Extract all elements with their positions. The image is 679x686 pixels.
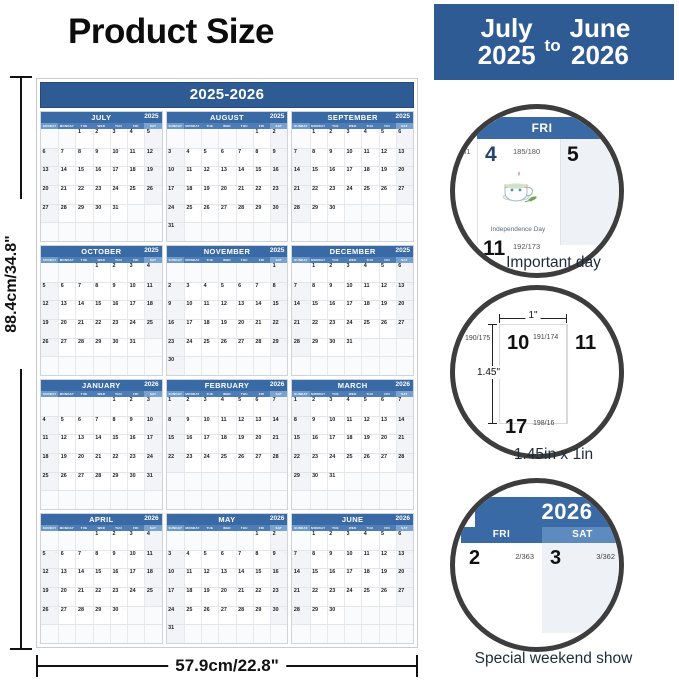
day-fraction: ··· [284,321,287,324]
day-fraction: ··· [232,455,235,458]
day-cell-empty [127,205,144,223]
day-fraction: ··· [358,169,361,172]
day-number: 12 [381,150,387,155]
day-cell: 7··· [236,149,253,167]
day-number: 30 [312,474,318,479]
day-cell-empty [253,263,270,282]
day-number: 7 [255,284,258,289]
day-number: 8 [112,418,115,423]
day-cell: 9··· [127,417,144,435]
day-number: 11 [186,570,192,575]
day-number: 2 [168,284,171,289]
day-number: 11 [221,418,227,423]
day-cell: 13··· [396,149,413,167]
day-number: 24 [347,187,353,192]
day-cell-empty [253,357,270,375]
day-number: 18 [130,168,136,173]
day-cell: 24··· [344,320,361,338]
day-cell-empty [253,491,270,509]
day-cell: 30··· [327,607,344,625]
day-number: 22 [273,321,279,326]
week-row: 8···9···10···11···12···13···14··· [292,416,413,435]
week-row: 1···2···3···4···5···6··· [292,531,413,550]
day-number: 24 [347,321,353,326]
day-fraction: ··· [306,187,309,190]
day-number: 17 [112,168,118,173]
cell-width-dimension: 1" [499,312,567,324]
day-number: 16 [329,168,335,173]
day-number: 26 [364,455,370,460]
day-cell-empty [75,263,92,282]
day-cell-empty [218,625,235,643]
day-number: 28 [238,206,244,211]
day-number: 7 [273,398,276,403]
day-number: 13 [221,570,227,575]
day-fraction: ··· [392,552,395,555]
month-header: JANUARY2026 [41,380,162,391]
week-row: 11···12···13···14···15···16···17··· [41,434,162,453]
day-fraction: ··· [180,571,183,574]
week-row: 31··· [167,222,288,241]
day-cell: 8··· [110,417,127,435]
week-row: 28···29···30···31··· [292,338,413,357]
day-fraction: ··· [375,533,378,536]
day-fraction: ··· [358,455,361,458]
day-fraction: ··· [124,533,127,536]
day-fraction: ··· [266,455,269,458]
day-fraction: ··· [323,150,326,153]
day-number: 27 [78,474,84,479]
day-fraction: ··· [158,321,161,324]
day-number: 10 [147,418,153,423]
important-day-number: 4 [485,143,497,167]
day-cell-empty [201,223,218,241]
day-number: 19 [364,436,370,441]
day-fraction: ··· [198,608,201,611]
day-fraction: ··· [266,321,269,324]
day-number: 26 [238,455,244,460]
day-number: 21 [294,187,300,192]
day-number: 27 [221,608,227,613]
day-number: 14 [78,570,84,575]
day-number: 15 [312,168,318,173]
day-cell: 9··· [270,149,287,167]
day-cell: 25··· [344,454,361,472]
day-number: 1 [95,264,98,269]
day-number: 1 [255,130,258,135]
day-number: 11 [130,150,136,155]
day-cell: 20··· [218,588,235,606]
day-number: 18 [186,589,192,594]
day-number: 1 [312,264,315,269]
day-cell: 24··· [344,588,361,606]
day-cell: 10··· [327,417,344,435]
day-cell: 23··· [184,454,201,472]
day-fraction: ··· [158,418,161,421]
day-cell: 27··· [58,607,75,625]
day-cell: 5··· [361,397,378,416]
day-cell: 21··· [253,320,270,338]
day-cell: 29··· [253,205,270,223]
day-fraction: ··· [72,589,75,592]
month-card: JANUARY2026SUNDAYMONDAYTUEWEDTHUFRISAT1·… [40,379,163,510]
day-number: 6 [78,418,81,423]
day-cell-empty [110,491,127,509]
day-number: 10 [112,150,118,155]
day-number: 4 [186,552,189,557]
day-number: 28 [273,455,279,460]
day-fraction: ··· [141,455,144,458]
day-cell: 3··· [144,397,161,416]
day-number: 5 [43,552,46,557]
day-cell-empty [184,263,201,282]
day-cell: 7··· [93,417,110,435]
month-name: JUNE [342,516,364,524]
day-fraction: ··· [358,150,361,153]
day-fraction: ··· [392,437,395,440]
day-number: 17 [130,302,136,307]
day-number: 14 [294,302,300,307]
day-cell: 2··· [127,397,144,416]
day-number: 10 [347,150,353,155]
day-fraction: ··· [72,437,75,440]
day-cell: 8··· [253,149,270,167]
day-cell-empty [270,625,287,643]
day-cell: 27··· [58,339,75,357]
day-cell: 22··· [292,454,309,472]
day-number: 7 [95,418,98,423]
day-fraction: ··· [141,131,144,134]
day-cell: 27··· [379,454,396,472]
month-header: DECEMBER2025 [292,246,413,257]
day-cell: 3··· [167,551,184,569]
day-cell-empty [327,357,344,375]
day-cell-empty [344,473,361,491]
weekend-zoom: 2026 FRI SAT 2 2/363 3 3/362 [455,483,624,652]
day-fraction: ··· [375,571,378,574]
day-fraction: ··· [249,399,252,402]
product-size-panel: Product Size 88.4cm/34.8" 2025-2026 JULY… [0,0,428,686]
day-cell: 7··· [75,551,92,569]
day-cell: 21··· [58,186,75,204]
day-fraction: ··· [158,552,161,555]
day-number: 1 [312,532,315,537]
month-year: 2026 [144,382,158,389]
week-row [292,356,413,375]
day-number: 7 [294,552,297,557]
weeks-body: 1···2···3···4···5···6···7···8···9···10··… [167,531,288,643]
week-row: 17···18···19···20···21···22···23··· [167,587,288,606]
month-name: SEPTEMBER [328,114,378,122]
day-cell: 22··· [310,588,327,606]
day-fraction: ··· [392,321,395,324]
callout-important-day: FRI 181 4 185/180 5 Independence Day 11 … [450,104,624,278]
day-cell-empty [379,491,396,509]
months-grid: JULY2025SUNDAYMONDAYTUEWEDTHUFRISAT1···2… [40,108,414,644]
month-year: 2025 [396,248,410,255]
day-cell-empty [167,531,184,550]
day-cell: 11··· [361,283,378,301]
day-cell-empty [167,129,184,148]
day-number: 1 [78,130,81,135]
day-fraction: ··· [141,589,144,592]
month-card: OCTOBER2025SUNDAYMONDAYTUEWEDTHUFRISAT1·… [40,245,163,376]
day-fraction: ··· [198,552,201,555]
day-cell: 1··· [167,397,184,416]
day-fraction: ··· [323,399,326,402]
day-number: 16 [273,168,279,173]
day-number: 6 [381,398,384,403]
day-number: 29 [273,340,279,345]
day-number: 27 [221,206,227,211]
day-fraction: ··· [215,552,218,555]
day-fraction: ··· [106,474,109,477]
day-fraction: ··· [72,303,75,306]
week-row: 1···2···3··· [41,397,162,416]
day-cell-empty [292,263,309,282]
day-fraction: ··· [106,608,109,611]
day-number: 29 [312,608,318,613]
day-fraction: ··· [124,321,127,324]
day-cell: 13··· [41,167,58,185]
day-fraction: ··· [284,206,287,209]
day-fraction: ··· [284,608,287,611]
day-number: 28 [398,455,404,460]
day-cell: 20··· [75,454,92,472]
day-number: 13 [255,418,261,423]
day-fraction: ··· [89,608,92,611]
day-cell: 14··· [292,167,309,185]
day-fraction: ··· [106,187,109,190]
day-number: 13 [381,418,387,423]
day-fraction: ··· [72,552,75,555]
day-fraction: ··· [340,284,343,287]
day-cell: 6··· [218,149,235,167]
day-fraction: ··· [340,589,343,592]
day-number: 10 [130,552,136,557]
date-range-banner: July 2025 to June 2026 [434,4,674,80]
day-number: 22 [294,455,300,460]
day-cell-empty [41,129,58,148]
week-row: 1··· [167,263,288,282]
day-number: 23 [112,321,118,326]
day-number: 31 [168,626,174,631]
day-number: 8 [255,552,258,557]
week-row: 12···13···14···15···16···17···18··· [41,300,162,319]
day-fraction: ··· [409,321,412,324]
day-number: 22 [78,187,84,192]
day-cell: 3··· [344,531,361,550]
week-row [41,490,162,509]
day-number: 1 [294,398,297,403]
day-fraction: ··· [266,340,269,343]
day-fraction: ··· [232,206,235,209]
day-number: 30 [130,474,136,479]
day-fraction: ··· [323,589,326,592]
day-fraction: ··· [55,206,58,209]
day-number: 29 [255,608,261,613]
day-cell: 13··· [218,167,235,185]
day-number: 7 [294,150,297,155]
day-number: 28 [294,206,300,211]
day-fraction: ··· [180,340,183,343]
day-number: 25 [364,321,370,326]
day-fraction: ··· [124,589,127,592]
day-number: 5 [381,532,384,537]
weeks-body: 1···2···3···4···5···6···7···8···9···10··… [41,263,162,375]
day-cell: 18··· [201,320,218,338]
day-fraction: ··· [323,418,326,421]
day-number: 14 [294,168,300,173]
day-cell: 28··· [58,205,75,223]
month-header: JUNE2026 [292,514,413,525]
week-row: 6···7···8···9···10···11···12··· [41,148,162,167]
day-fraction: ··· [55,303,58,306]
day-fraction: ··· [266,552,269,555]
day-cell: 3··· [344,263,361,282]
day-number: 28 [61,206,67,211]
day-number: 3 [347,130,350,135]
day-fraction: ··· [375,131,378,134]
day-fraction: ··· [72,169,75,172]
day-number: 26 [381,187,387,192]
day-cell: 1··· [310,129,327,148]
day-fraction: ··· [306,169,309,172]
day-number: 3 [204,398,207,403]
day-number: 17 [347,168,353,173]
day-number: 24 [130,321,136,326]
day-number: 18 [147,302,153,307]
day-fraction: ··· [306,284,309,287]
weekend-sat-number: 3 [550,547,561,570]
day-fraction: ··· [158,284,161,287]
weekend-dow-row: FRI SAT [461,527,623,543]
week-row: 1···2···3···4···5···6··· [292,129,413,148]
day-fraction: ··· [340,552,343,555]
day-cell: 26··· [379,186,396,204]
day-fraction: ··· [124,187,127,190]
day-fraction: ··· [306,321,309,324]
day-fraction: ··· [409,187,412,190]
day-cell: 21··· [396,435,413,453]
month-name: NOVEMBER [204,248,251,256]
month-year: 2025 [144,248,158,255]
day-number: 20 [61,589,67,594]
week-row: 12···13···14···15···16···17···18··· [41,568,162,587]
day-number: 21 [95,455,101,460]
day-number: 24 [186,340,192,345]
weeks-body: 1···2···3···4···5···6···7···8···9···10··… [41,397,162,509]
day-cell: 16··· [93,167,110,185]
day-fraction: ··· [198,418,201,421]
day-cell-empty [58,625,75,643]
day-number: 24 [147,455,153,460]
day-fraction: ··· [358,303,361,306]
day-cell: 16··· [270,569,287,587]
day-number: 15 [168,436,174,441]
day-cell: 24··· [201,454,218,472]
day-cell: 27··· [218,607,235,625]
week-row: 4···5···6···7···8···9···10··· [41,416,162,435]
day-cell: 17··· [344,301,361,319]
day-cell: 23··· [270,588,287,606]
month-header: APRIL2026 [41,514,162,525]
range-start-year: 2025 [478,42,536,69]
day-cell: 29··· [110,473,127,491]
day-cell: 17··· [201,435,218,453]
day-cell: 20··· [236,320,253,338]
day-cell: 1··· [270,263,287,282]
feature-callouts-panel: July 2025 to June 2026 FRI 181 4 185/180… [428,0,679,686]
day-fraction: ··· [266,169,269,172]
day-cell-empty [58,223,75,241]
day-cell: 19··· [41,588,58,606]
day-cell-empty [58,531,75,550]
day-number: 2 [112,264,115,269]
day-cell: 6··· [218,551,235,569]
day-fraction: ··· [306,608,309,611]
day-number: 14 [61,168,67,173]
day-cell: 24··· [144,454,161,472]
day-fraction: ··· [158,589,161,592]
day-fraction: ··· [72,474,75,477]
day-number: 16 [112,302,118,307]
day-cell: 24··· [167,205,184,223]
week-row [167,472,288,491]
day-fraction: ··· [180,589,183,592]
week-row: 1···2···3···4···5···6···7··· [167,397,288,416]
day-number: 25 [147,321,153,326]
day-number: 1 [255,532,258,537]
week-row: 27···28···29···30···31··· [41,204,162,223]
day-number: 6 [398,264,401,269]
day-cell: 15··· [93,569,110,587]
day-cell-empty [218,263,235,282]
day-number: 10 [347,284,353,289]
day-cell: 10··· [184,301,201,319]
day-cell-empty [144,205,161,223]
day-number: 20 [221,187,227,192]
day-cell: 27··· [236,339,253,357]
day-number: 17 [347,570,353,575]
day-cell: 5··· [236,397,253,416]
month-year: 2025 [144,114,158,121]
day-cell: 5··· [201,551,218,569]
day-cell: 28··· [236,205,253,223]
day-cell: 28··· [75,339,92,357]
day-fraction: ··· [284,340,287,343]
day-number: 12 [381,284,387,289]
day-cell-empty [93,491,110,509]
day-number: 18 [364,168,370,173]
day-number: 15 [255,570,261,575]
day-number: 28 [255,340,261,345]
day-fraction: ··· [409,552,412,555]
day-cell-empty [310,357,327,375]
week-row: 26···27···28···29···30··· [41,606,162,625]
day-fraction: ··· [249,284,252,287]
day-number: 5 [238,398,241,403]
day-cell: 19··· [58,454,75,472]
day-number: 4 [204,284,207,289]
day-fraction: ··· [284,265,287,268]
day-fraction: ··· [106,552,109,555]
day-number: 18 [364,302,370,307]
day-fraction: ··· [358,437,361,440]
day-cell-empty [201,357,218,375]
month-header: OCTOBER2025 [41,246,162,257]
day-number: 11 [364,150,370,155]
